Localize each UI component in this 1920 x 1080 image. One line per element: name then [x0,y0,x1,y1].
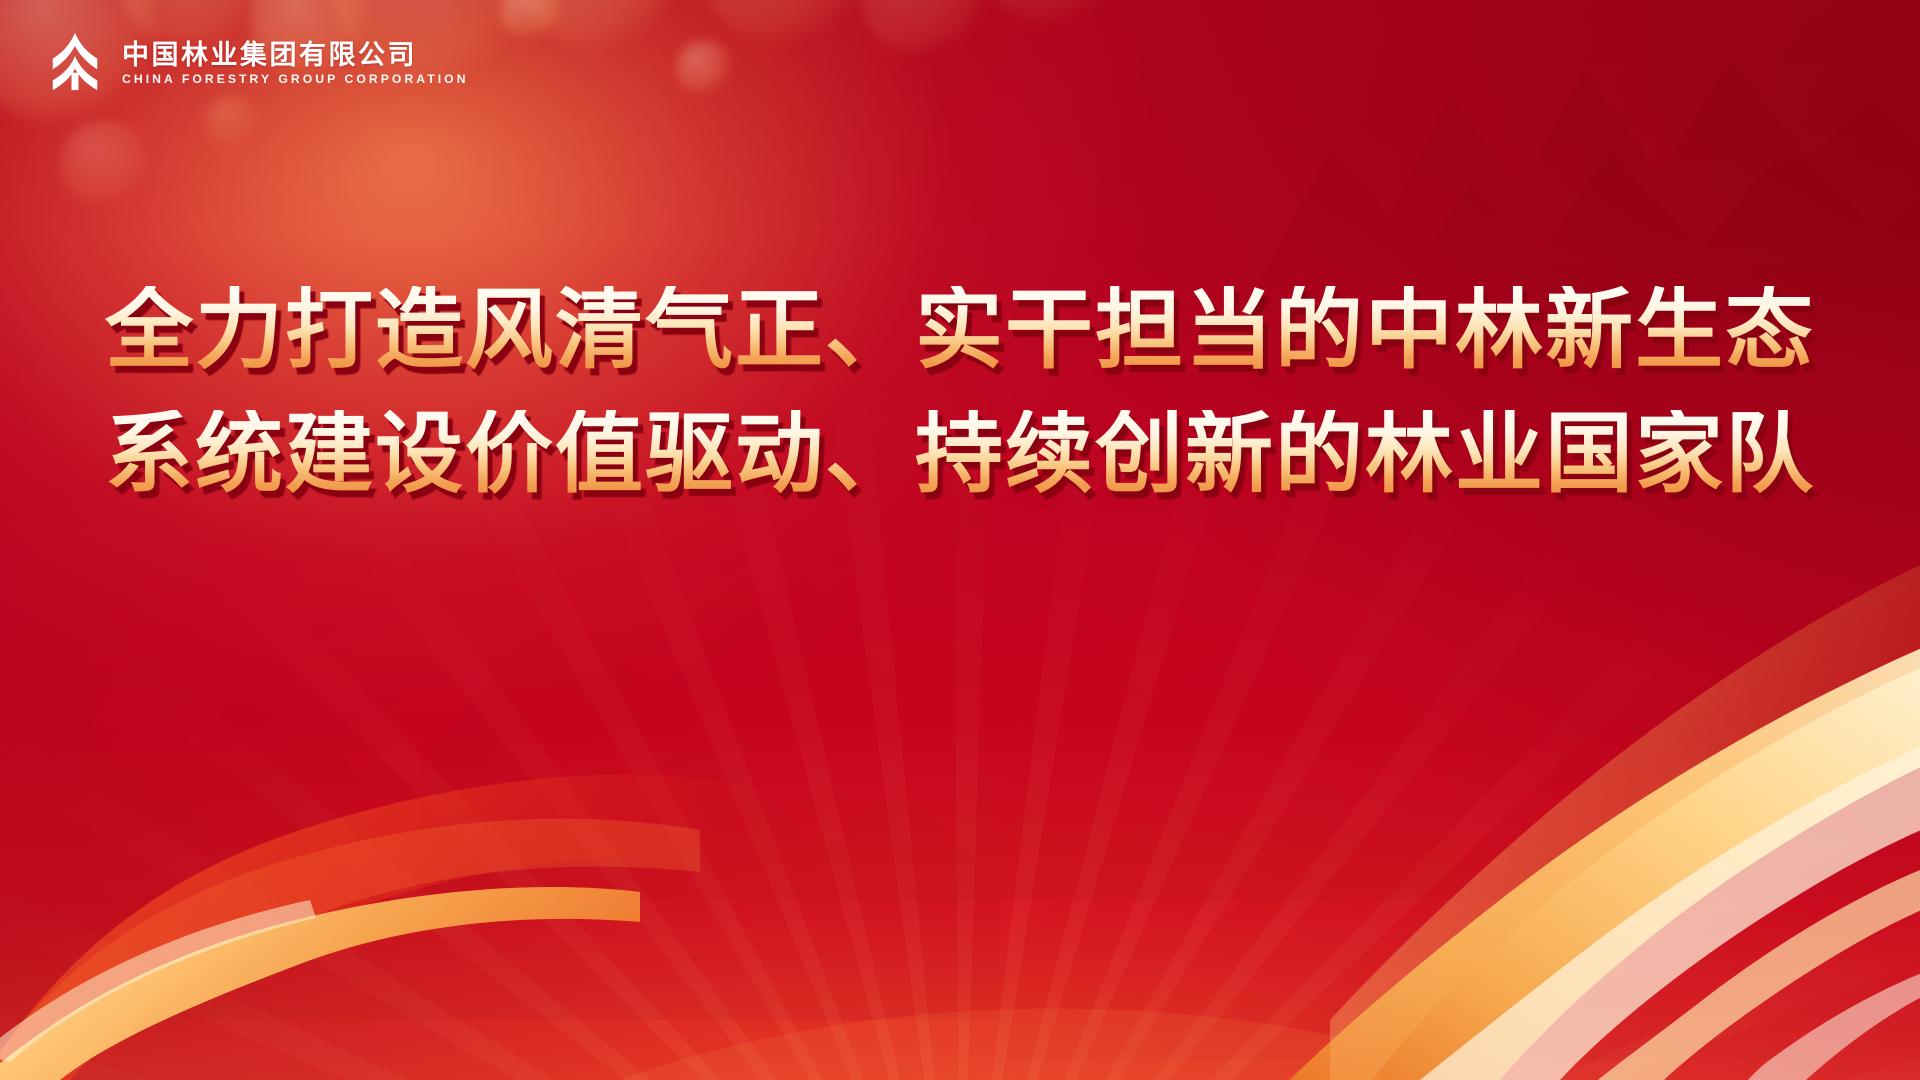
headline-line-2-text: 系统建设价值驱动、持续创新的林业国家队 [105,410,1815,498]
brand-name-en: CHINA FORESTRY GROUP CORPORATION [122,73,469,85]
brand-logo-text: 中国林业集团有限公司 CHINA FORESTRY GROUP CORPORAT… [122,37,469,85]
background-base [0,0,1920,1080]
headline-block: 全力打造风清气正、实干担当的中林新生态 全力打造风清气正、实干担当的中林新生态 … [0,286,1920,514]
brand-name-cn: 中国林业集团有限公司 [122,41,469,69]
poster-canvas: 中国林业集团有限公司 CHINA FORESTRY GROUP CORPORAT… [0,0,1920,1080]
headline-line-1-text: 全力打造风清气正、实干担当的中林新生态 [105,286,1815,374]
brand-logo[interactable]: 中国林业集团有限公司 CHINA FORESTRY GROUP CORPORAT… [44,30,469,92]
headline-line-2: 系统建设价值驱动、持续创新的林业国家队 系统建设价值驱动、持续创新的林业国家队 [105,410,1815,514]
headline-line-1: 全力打造风清气正、实干担当的中林新生态 全力打造风清气正、实干担当的中林新生态 [105,286,1815,390]
china-forestry-tree-mark-icon [44,30,106,92]
